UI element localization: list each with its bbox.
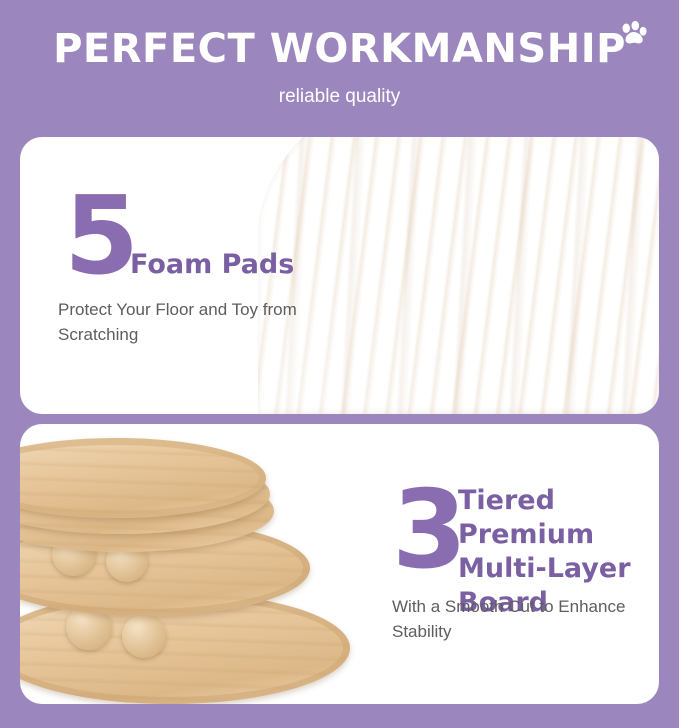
feature-card-tiered-board: 3 Tiered Premium Multi-Layer Board With … (20, 424, 659, 704)
feature-card-foam-pads: 5 Foam Pads Protect Your Floor and Toy f… (20, 137, 659, 414)
feature-number: 5 (64, 187, 139, 287)
product-feature-graphic: PERFECT WORKMANSHIP reliable quality 5 F… (0, 0, 679, 728)
feature-number: 3 (392, 481, 467, 581)
page-subtitle: reliable quality (0, 86, 679, 108)
wood-ball (122, 614, 166, 658)
wood-turntable-image (258, 137, 659, 414)
page-title: PERFECT WORKMANSHIP (0, 26, 679, 72)
paw-icon (618, 20, 648, 50)
feature-title: Foam Pads (130, 249, 294, 280)
header: PERFECT WORKMANSHIP reliable quality (0, 0, 679, 130)
tiered-board-image (20, 424, 380, 704)
feature-description: With a Smooth Cut to Enhance Stability (392, 594, 654, 644)
feature-description: Protect Your Floor and Toy from Scratchi… (58, 297, 348, 347)
